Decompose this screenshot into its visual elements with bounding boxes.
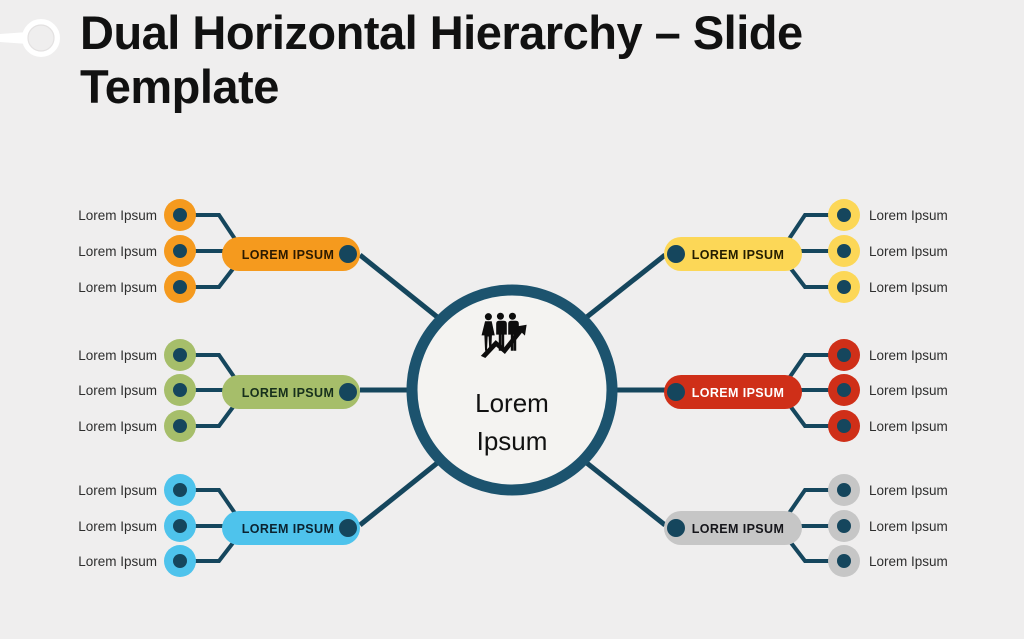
branch-pill-label-green: LOREM IPSUM bbox=[242, 386, 335, 400]
spoke-gray bbox=[583, 460, 665, 525]
leaf-node-blue-1[interactable] bbox=[164, 474, 196, 506]
leaf-label-red-3: Lorem Ipsum bbox=[869, 419, 948, 434]
leaf-node-green-1[interactable] bbox=[164, 339, 196, 371]
leaf-label-blue-3: Lorem Ipsum bbox=[78, 554, 157, 569]
leaf-label-gray-1: Lorem Ipsum bbox=[869, 483, 948, 498]
leaf-node-yellow-3[interactable] bbox=[828, 271, 860, 303]
center-hub[interactable]: Lorem Ipsum bbox=[412, 290, 612, 490]
leaf-node-yellow-2[interactable] bbox=[828, 235, 860, 267]
spoke-orange bbox=[360, 255, 441, 320]
hierarchy-diagram: Lorem Ipsum Lorem Ipsum Lorem Ipsum LORE… bbox=[0, 0, 1024, 639]
center-label-line2: Ipsum bbox=[477, 426, 548, 456]
leaf-node-gray-2[interactable] bbox=[828, 510, 860, 542]
leaf-label-gray-2: Lorem Ipsum bbox=[869, 519, 948, 534]
leaf-node-gray-1[interactable] bbox=[828, 474, 860, 506]
leaf-node-blue-2[interactable] bbox=[164, 510, 196, 542]
leaf-node-red-3[interactable] bbox=[828, 410, 860, 442]
branch-pill-label-gray: LOREM IPSUM bbox=[692, 522, 785, 536]
slide-canvas: Dual Horizontal Hierarchy – Slide Templa… bbox=[0, 0, 1024, 639]
leaf-label-green-1: Lorem Ipsum bbox=[78, 348, 157, 363]
center-label-line1: Lorem bbox=[475, 388, 549, 418]
pill-dot-gray bbox=[667, 519, 685, 537]
pill-dot-blue bbox=[339, 519, 357, 537]
leaf-label-yellow-2: Lorem Ipsum bbox=[869, 244, 948, 259]
leaf-label-blue-1: Lorem Ipsum bbox=[78, 483, 157, 498]
leaf-label-orange-3: Lorem Ipsum bbox=[78, 280, 157, 295]
leaf-node-yellow-1[interactable] bbox=[828, 199, 860, 231]
pill-dot-green bbox=[339, 383, 357, 401]
branch-blue[interactable]: Lorem Ipsum Lorem Ipsum Lorem Ipsum LORE… bbox=[78, 474, 360, 577]
branch-yellow[interactable]: Lorem Ipsum Lorem Ipsum Lorem Ipsum LORE… bbox=[664, 199, 948, 303]
pill-dot-yellow bbox=[667, 245, 685, 263]
leaf-label-red-1: Lorem Ipsum bbox=[869, 348, 948, 363]
leaf-node-orange-1[interactable] bbox=[164, 199, 196, 231]
leaf-node-orange-2[interactable] bbox=[164, 235, 196, 267]
leaf-label-red-2: Lorem Ipsum bbox=[869, 383, 948, 398]
leaf-label-yellow-1: Lorem Ipsum bbox=[869, 208, 948, 223]
leaf-label-green-2: Lorem Ipsum bbox=[78, 383, 157, 398]
leaf-node-blue-3[interactable] bbox=[164, 545, 196, 577]
leaf-label-orange-1: Lorem Ipsum bbox=[78, 208, 157, 223]
branch-pill-label-yellow: LOREM IPSUM bbox=[692, 248, 785, 262]
leaf-label-orange-2: Lorem Ipsum bbox=[78, 244, 157, 259]
leaf-label-yellow-3: Lorem Ipsum bbox=[869, 280, 948, 295]
leaf-label-green-3: Lorem Ipsum bbox=[78, 419, 157, 434]
branch-green[interactable]: Lorem Ipsum Lorem Ipsum Lorem Ipsum LORE… bbox=[78, 339, 360, 442]
leaf-node-green-2[interactable] bbox=[164, 374, 196, 406]
leaf-node-red-2[interactable] bbox=[828, 374, 860, 406]
pill-dot-orange bbox=[339, 245, 357, 263]
leaf-node-red-1[interactable] bbox=[828, 339, 860, 371]
branch-gray[interactable]: Lorem Ipsum Lorem Ipsum Lorem Ipsum LORE… bbox=[664, 474, 948, 577]
spoke-blue bbox=[360, 460, 441, 525]
branch-pill-label-red: LOREM IPSUM bbox=[692, 386, 785, 400]
leaf-node-orange-3[interactable] bbox=[164, 271, 196, 303]
branch-pill-label-blue: LOREM IPSUM bbox=[242, 522, 335, 536]
leaf-label-blue-2: Lorem Ipsum bbox=[78, 519, 157, 534]
leaf-node-gray-3[interactable] bbox=[828, 545, 860, 577]
leaf-node-green-3[interactable] bbox=[164, 410, 196, 442]
leaf-label-gray-3: Lorem Ipsum bbox=[869, 554, 948, 569]
branch-orange[interactable]: Lorem Ipsum Lorem Ipsum Lorem Ipsum LORE… bbox=[78, 199, 360, 303]
pill-dot-red bbox=[667, 383, 685, 401]
branch-pill-label-orange: LOREM IPSUM bbox=[242, 248, 335, 262]
branch-red[interactable]: Lorem Ipsum Lorem Ipsum Lorem Ipsum LORE… bbox=[664, 339, 948, 442]
spoke-yellow bbox=[583, 255, 665, 320]
